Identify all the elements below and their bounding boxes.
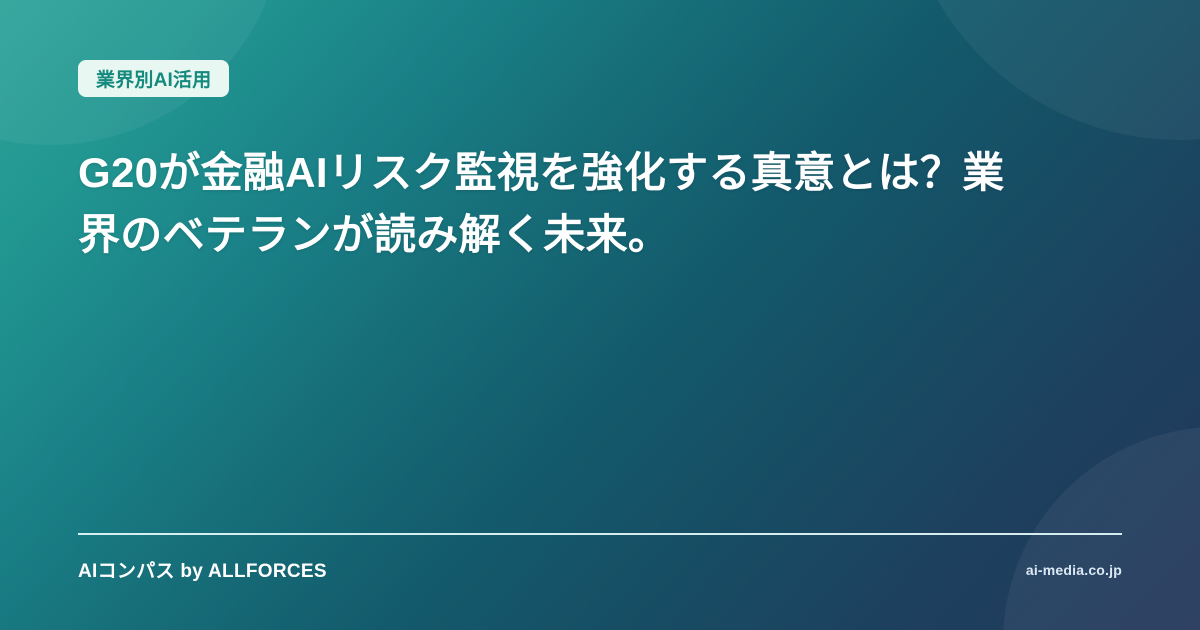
card-content: 業界別AI活用 G20が金融AIリスク監視を強化する真意とは？業 界のベテランが… bbox=[0, 0, 1200, 630]
site-domain: ai-media.co.jp bbox=[1026, 562, 1122, 578]
category-badge-label: 業界別AI活用 bbox=[96, 65, 211, 92]
brand-name: AIコンパス by ALLFORCES bbox=[78, 556, 327, 583]
card-footer: AIコンパス by ALLFORCES ai-media.co.jp bbox=[78, 556, 1122, 583]
page-title-line-1: G20が金融AIリスク監視を強化する真意とは？業 bbox=[78, 142, 1108, 204]
footer-divider bbox=[78, 533, 1122, 535]
category-badge: 業界別AI活用 bbox=[78, 60, 229, 97]
og-banner-card: 業界別AI活用 G20が金融AIリスク監視を強化する真意とは？業 界のベテランが… bbox=[0, 0, 1200, 630]
page-title-line-2: 界のベテランが読み解く未来。 bbox=[78, 204, 1108, 266]
page-title: G20が金融AIリスク監視を強化する真意とは？業 界のベテランが読み解く未来。 bbox=[78, 142, 1108, 266]
